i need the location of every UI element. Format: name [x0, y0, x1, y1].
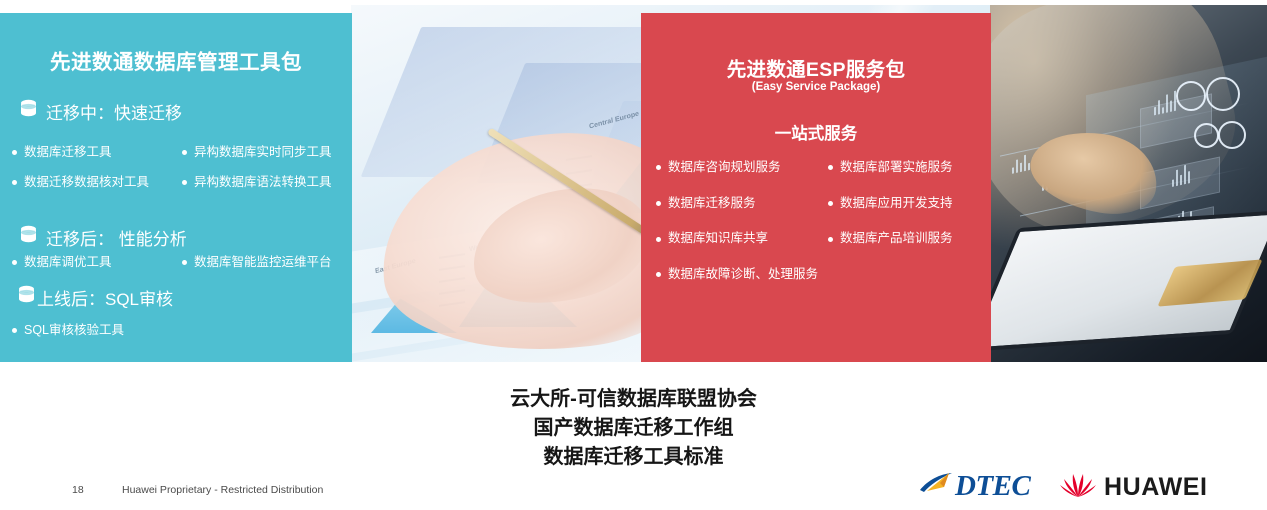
bullet-dot-icon [656, 272, 661, 277]
left-panel-section-label: 上线后：SQL审核 [37, 285, 173, 310]
photo-ring-icon [1218, 121, 1246, 149]
list-item-label: 数据库智能监控运维平台 [194, 255, 332, 271]
left-panel-items-after-migration: 数据库调优工具 数据库智能监控运维平台 [12, 255, 362, 271]
bottom-heading-block: 云大所-可信数据库联盟协会 国产数据库迁移工作组 数据库迁移工具标准 [0, 385, 1267, 472]
bullet-dot-icon [12, 180, 17, 185]
list-item: 数据库迁移服务 [656, 196, 828, 212]
list-item: 数据库部署实施服务 [828, 160, 998, 176]
list-item-label: 数据库调优工具 [24, 255, 112, 271]
list-item-label: 数据库部署实施服务 [840, 160, 953, 176]
left-panel-items-migrating: 数据库迁移工具 异构数据库实时同步工具 数据迁移数据核对工具 异构数据库语法转换… [12, 145, 362, 190]
bottom-heading-line-1: 云大所-可信数据库联盟协会 [0, 385, 1267, 414]
database-icon [20, 225, 37, 250]
slide-canvas: East Europe West Europe Central Europe R… [0, 0, 1267, 510]
database-icon [20, 99, 37, 124]
left-panel-items-after-golive: SQL审核核验工具 [12, 323, 212, 339]
bottom-heading-line-2: 国产数据库迁移工作组 [0, 414, 1267, 443]
list-item: 数据库知识库共享 [656, 231, 828, 247]
huawei-logo: HUAWEI [1060, 471, 1208, 504]
bullet-dot-icon [182, 150, 187, 155]
list-item-label: 数据库应用开发支持 [840, 196, 953, 212]
dtec-logo: DTEC [918, 470, 1030, 503]
right-panel-items: 数据库咨询规划服务 数据库部署实施服务 数据库迁移服务 数据库应用开发支持 数据… [656, 160, 998, 283]
right-panel-tagline: 一站式服务 [641, 120, 991, 144]
right-panel-esp: 先进数通ESP服务包 (Easy Service Package) 一站式服务 … [641, 13, 991, 362]
left-panel-section-heading-after-golive: 上线后：SQL审核 [18, 285, 173, 310]
list-item: 异构数据库实时同步工具 [182, 145, 362, 161]
bullet-dot-icon [828, 201, 833, 206]
bullet-dot-icon [12, 150, 17, 155]
list-item: 数据库故障诊断、处理服务 [656, 267, 828, 283]
photo-ring-icon [1194, 123, 1219, 148]
left-panel-section-label: 迁移后： 性能分析 [46, 225, 187, 250]
list-item: 异构数据库语法转换工具 [182, 175, 362, 191]
right-panel-title: 先进数通ESP服务包 [641, 53, 991, 82]
list-item: 数据库调优工具 [12, 255, 182, 271]
bullet-dot-icon [12, 260, 17, 265]
huawei-wordmark: HUAWEI [1104, 475, 1208, 500]
list-item: SQL审核核验工具 [12, 323, 212, 339]
list-item-label: 异构数据库实时同步工具 [194, 145, 332, 161]
photo-ring-icon [1176, 81, 1206, 111]
left-panel-title: 先进数通数据库管理工具包 [0, 45, 352, 75]
left-panel-toolkit: 先进数通数据库管理工具包 迁移中：快速迁移 数据库迁移工具 异构数据库实时同步工… [0, 13, 352, 362]
list-item: 数据库智能监控运维平台 [182, 255, 362, 271]
list-item-label: 数据库迁移服务 [668, 196, 756, 212]
list-item-label: 数据迁移数据核对工具 [24, 175, 149, 191]
left-panel-section-label: 迁移中：快速迁移 [46, 99, 182, 124]
bullet-dot-icon [828, 237, 833, 242]
bullet-dot-icon [656, 237, 661, 242]
list-item: 数据库应用开发支持 [828, 196, 998, 212]
list-item-label: 异构数据库语法转换工具 [194, 175, 332, 191]
right-photo-tablet [990, 5, 1267, 362]
list-item-label: 数据库故障诊断、处理服务 [668, 267, 818, 283]
list-item: 数据库迁移工具 [12, 145, 182, 161]
dtec-mark-icon [918, 470, 954, 503]
photo-bar-glyph [1154, 89, 1176, 116]
huawei-flower-icon [1060, 471, 1096, 504]
left-panel-section-heading-migrating: 迁移中：快速迁移 [20, 99, 182, 124]
bullet-dot-icon [828, 165, 833, 170]
bullet-dot-icon [656, 165, 661, 170]
dtec-wordmark: DTEC [955, 472, 1030, 501]
database-icon [18, 285, 35, 310]
list-item: 数据迁移数据核对工具 [12, 175, 182, 191]
bullet-dot-icon [656, 201, 661, 206]
right-panel-subtitle: (Easy Service Package) [641, 81, 991, 93]
list-item-label: 数据库知识库共享 [668, 231, 768, 247]
list-item-label: SQL审核核验工具 [24, 323, 124, 339]
confidentiality-note: Huawei Proprietary - Restricted Distribu… [122, 484, 323, 496]
left-panel-section-heading-after-migration: 迁移后： 性能分析 [20, 225, 187, 250]
list-item-label: 数据库咨询规划服务 [668, 160, 781, 176]
list-item-label: 数据库产品培训服务 [840, 231, 953, 247]
bullet-dot-icon [182, 260, 187, 265]
list-item-label: 数据库迁移工具 [24, 145, 112, 161]
page-number: 18 [72, 484, 84, 496]
bottom-heading-line-3: 数据库迁移工具标准 [0, 443, 1267, 472]
bullet-dot-icon [12, 328, 17, 333]
list-item: 数据库产品培训服务 [828, 231, 998, 247]
bullet-dot-icon [182, 180, 187, 185]
list-item: 数据库咨询规划服务 [656, 160, 828, 176]
